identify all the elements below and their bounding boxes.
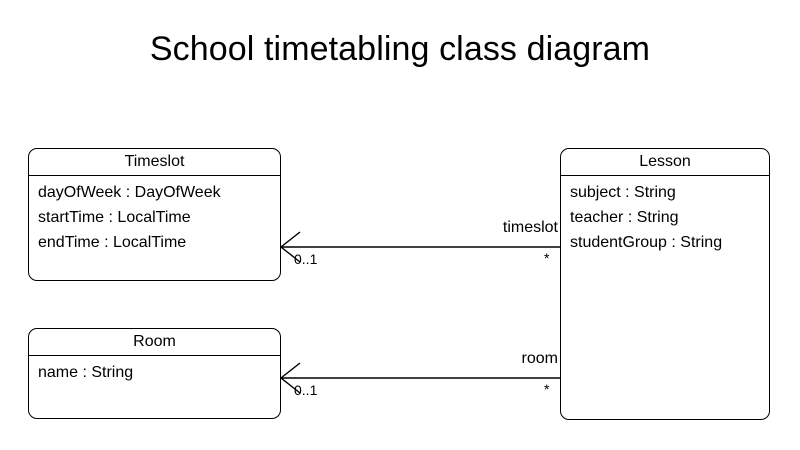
attribute-compartment-lesson: subject : String teacher : String studen…	[561, 176, 769, 255]
association-multiplicity-room-end: 0..1	[294, 382, 317, 398]
attribute-row: studentGroup : String	[570, 230, 769, 255]
attribute-compartment-timeslot: dayOfWeek : DayOfWeek startTime : LocalT…	[29, 176, 280, 255]
class-box-timeslot[interactable]: Timeslot dayOfWeek : DayOfWeek startTime…	[28, 148, 281, 281]
attribute-row: teacher : String	[570, 205, 769, 230]
attribute-row: name : String	[38, 360, 280, 385]
class-diagram-canvas: School timetabling class diagram Timeslo…	[0, 0, 800, 450]
attribute-row: subject : String	[570, 180, 769, 205]
class-name-room: Room	[29, 329, 280, 356]
attribute-row: dayOfWeek : DayOfWeek	[38, 180, 280, 205]
class-box-room[interactable]: Room name : String	[28, 328, 281, 419]
association-role-label-timeslot: timeslot	[398, 219, 558, 237]
attribute-row: endTime : LocalTime	[38, 230, 280, 255]
class-name-lesson: Lesson	[561, 149, 769, 176]
association-multiplicity-lesson-end-room: *	[544, 381, 549, 397]
association-role-label-room: room	[398, 350, 558, 368]
class-name-timeslot: Timeslot	[29, 149, 280, 176]
association-multiplicity-lesson-end-timeslot: *	[544, 250, 549, 266]
association-multiplicity-timeslot-end: 0..1	[294, 251, 317, 267]
diagram-title: School timetabling class diagram	[0, 28, 800, 70]
attribute-row: startTime : LocalTime	[38, 205, 280, 230]
attribute-compartment-room: name : String	[29, 356, 280, 385]
class-box-lesson[interactable]: Lesson subject : String teacher : String…	[560, 148, 770, 420]
